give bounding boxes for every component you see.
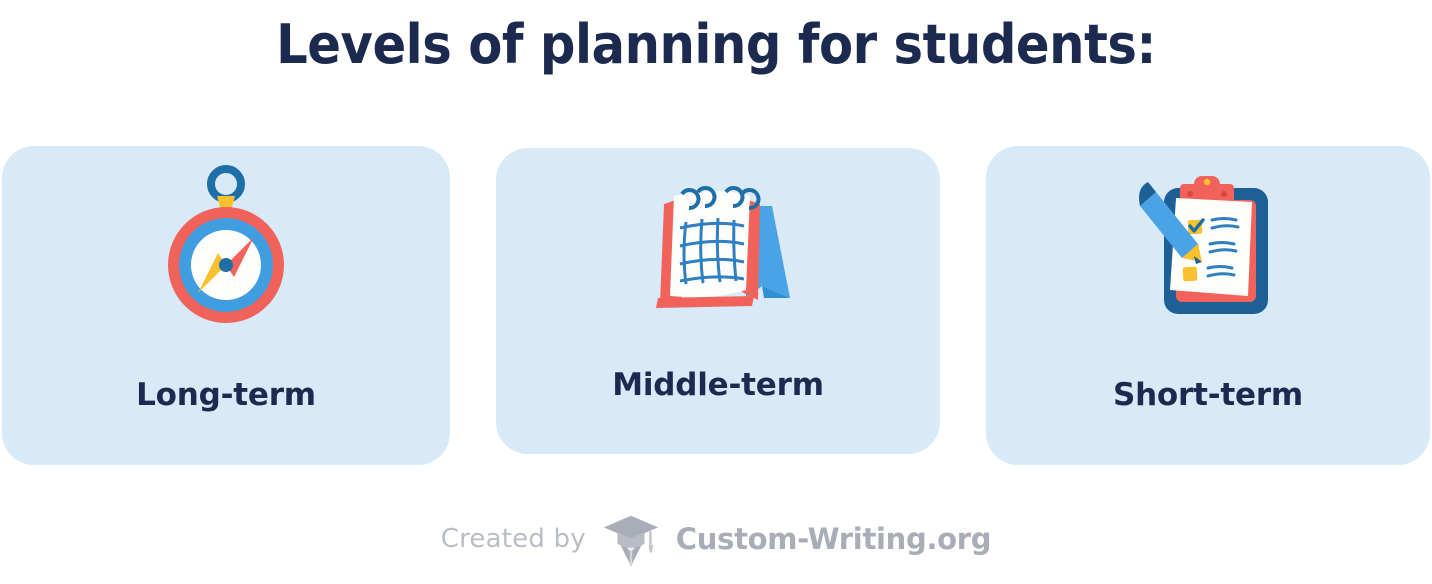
created-by-label: Created by bbox=[441, 524, 586, 554]
compass-icon bbox=[2, 146, 450, 346]
card-middle-term-label: Middle-term bbox=[496, 368, 940, 402]
card-middle-term[interactable]: Middle-term bbox=[496, 148, 940, 454]
clipboard-checklist-icon bbox=[986, 146, 1430, 346]
desk-calendar-icon-svg bbox=[642, 174, 794, 314]
footer-attribution: Created by Custom-Writing.org bbox=[0, 508, 1432, 570]
compass-icon-svg bbox=[151, 165, 301, 327]
card-short-term[interactable]: Short-term bbox=[986, 146, 1430, 465]
page-title: Levels of planning for students: bbox=[57, 6, 1374, 84]
levels-card-row: Long-term bbox=[2, 146, 1430, 468]
card-short-term-label: Short-term bbox=[986, 378, 1430, 412]
clipboard-checklist-icon-svg bbox=[1132, 170, 1284, 322]
desk-calendar-icon bbox=[496, 148, 940, 340]
card-long-term-label: Long-term bbox=[2, 378, 450, 412]
graduation-cap-pen-nib-logo bbox=[600, 508, 662, 570]
infographic-page: Levels of planning for students: bbox=[0, 0, 1432, 584]
brand-name-label: Custom-Writing.org bbox=[676, 522, 991, 556]
card-long-term[interactable]: Long-term bbox=[2, 146, 450, 465]
